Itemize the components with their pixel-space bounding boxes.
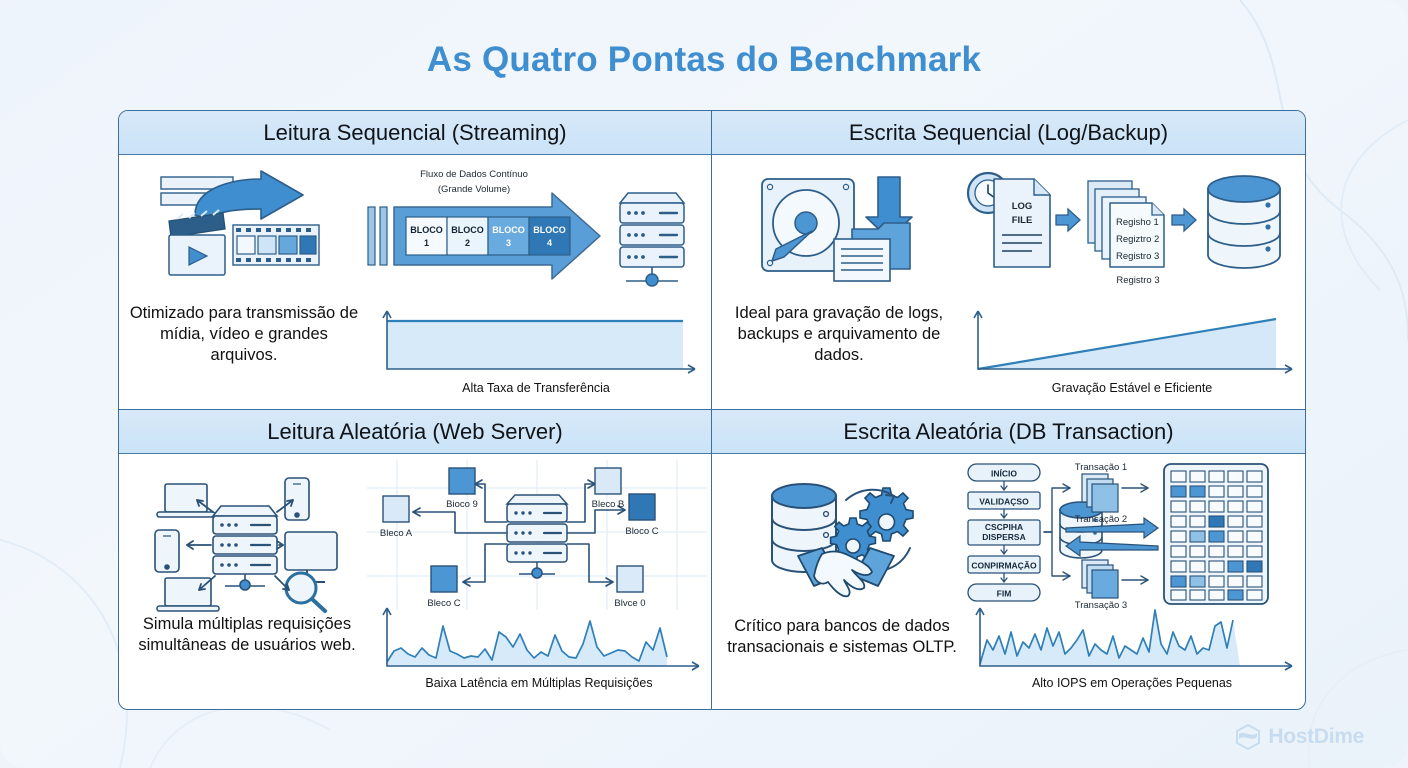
hostdime-logo: HostDime xyxy=(1235,724,1364,750)
disk-backup-illustration xyxy=(742,169,932,287)
transaction-stack-3 xyxy=(1082,560,1118,598)
flow-step-3a: CSCPIHA xyxy=(985,522,1023,532)
block-label-b: Bioco 9 xyxy=(446,499,478,510)
block-label-a: Bleco A xyxy=(380,528,413,539)
server-rack-icon xyxy=(620,193,684,286)
log-file-icon: LOG FILE xyxy=(994,179,1050,267)
flow-step-1: INÍCIO xyxy=(991,469,1017,479)
laptop-bottom-left xyxy=(157,578,219,611)
quadrant-random-read: Leitura Aleatória (Web Server) xyxy=(119,410,712,709)
block-number-2: 2 xyxy=(465,238,470,248)
quadrant-header-sequential-read: Leitura Sequencial (Streaming) xyxy=(119,111,711,155)
chart-label-random-read: Baixa Latência em Múltiplas Requisições xyxy=(369,676,709,690)
center-server-icon xyxy=(507,495,567,578)
flow-caption-line2: (Grande Volume) xyxy=(438,184,510,195)
quadrant-sequential-read: Leitura Sequencial (Streaming) xyxy=(119,111,712,410)
quadrant-grid: Leitura Sequencial (Streaming) xyxy=(118,110,1306,710)
record-label-2: Regiztro 2 xyxy=(1116,234,1159,245)
log-file-line1: LOG xyxy=(1012,201,1033,212)
block-label-3: BLOCO xyxy=(492,225,525,235)
block-matrix-icon xyxy=(1164,464,1268,604)
phone-top-right xyxy=(285,478,309,520)
transaction-stack-1 xyxy=(1082,474,1118,512)
block-label-1: BLOCO xyxy=(410,225,443,235)
laptop-top-left xyxy=(157,484,215,517)
description-sequential-read: Otimizado para transmissão de mídia, víd… xyxy=(129,303,359,366)
block-number-4: 4 xyxy=(547,238,552,248)
page-title: As Quatro Pontas do Benchmark xyxy=(0,40,1408,80)
quadrant-header-random-write: Escrita Aleatória (DB Transaction) xyxy=(712,410,1305,454)
chart-label-sequential-read: Alta Taxa de Transferência xyxy=(371,381,701,395)
record-label-3: Registro 3 xyxy=(1116,251,1159,262)
transaction-label-1: Transação 1 xyxy=(1075,462,1127,473)
record-stack: Regisho 1 Regiztro 2 Registro 3 Registro… xyxy=(1088,181,1164,286)
log-records-diagram: LOG FILE R xyxy=(962,163,1302,291)
description-sequential-write: Ideal para gravação de logs, backups e a… xyxy=(724,303,954,366)
hostdime-hex-logo xyxy=(1235,724,1261,750)
chart-random-write: Alto IOPS em Operações Pequenas xyxy=(962,602,1302,682)
block-label-d: Bloco C xyxy=(625,526,658,537)
chart-label-sequential-write: Gravação Estável e Eficiente xyxy=(962,381,1302,395)
chart-label-random-write: Alto IOPS em Operações Pequenas xyxy=(962,676,1302,690)
transaction-label-2: Transação 2 xyxy=(1075,514,1127,525)
flow-caption-line1: Fluxo de Dados Contínuo xyxy=(420,169,528,180)
database-cylinder-icon xyxy=(1208,176,1280,268)
flow-step-2: VALIDAÇSO xyxy=(979,497,1029,507)
quadrant-header-random-read: Leitura Aleatória (Web Server) xyxy=(119,410,711,454)
quadrant-body-sequential-read: Fluxo de Dados Contínuo (Grande Volume) xyxy=(119,155,711,409)
quadrant-header-sequential-write: Escrita Sequencial (Log/Backup) xyxy=(712,111,1305,155)
multi-device-illustration xyxy=(139,470,354,615)
block-number-3: 3 xyxy=(506,238,511,248)
magnifier-icon xyxy=(286,573,325,611)
hostdime-brand-text: HostDime xyxy=(1268,725,1364,749)
block-label-4: BLOCO xyxy=(533,225,566,235)
block-label-c: Bleco B xyxy=(592,499,625,510)
chart-sequential-read: Alta Taxa de Transferência xyxy=(371,305,701,385)
server-rack-icon xyxy=(213,506,277,590)
block-number-1: 1 xyxy=(424,238,429,248)
description-random-write: Crítico para bancos de dados transaciona… xyxy=(720,616,964,658)
quadrant-body-random-read: Bleco A Bioco 9 Bleco B Bloco C Bleco C … xyxy=(119,454,711,709)
flow-step-5: FIM xyxy=(997,589,1012,599)
quadrant-body-random-write: INÍCIO VALIDAÇSO CSCPIHA DISPERSA CONPIR… xyxy=(712,454,1305,709)
database-handshake-illustration xyxy=(742,470,947,618)
record-stack-caption: Registro 3 xyxy=(1116,275,1159,286)
quadrant-body-sequential-write: LOG FILE R xyxy=(712,155,1305,409)
random-access-diagram: Bleco A Bioco 9 Bleco B Bloco C Bleco C … xyxy=(367,460,707,610)
transaction-flow-diagram: INÍCIO VALIDAÇSO CSCPIHA DISPERSA CONPIR… xyxy=(960,458,1305,610)
quadrant-sequential-write: Escrita Sequencial (Log/Backup) xyxy=(712,111,1305,410)
handshake-icon xyxy=(798,548,894,596)
chart-sequential-write: Gravação Estável e Eficiente xyxy=(962,305,1302,385)
data-flow-diagram: Fluxo de Dados Contínuo (Grande Volume) xyxy=(364,161,699,291)
chart-random-read: Baixa Latência em Múltiplas Requisições xyxy=(369,602,709,682)
media-streaming-illustration xyxy=(143,169,333,287)
phone-left xyxy=(155,530,179,572)
log-file-line2: FILE xyxy=(1012,215,1033,226)
flow-step-3b: DISPERSA xyxy=(982,532,1025,542)
record-label-1: Regisho 1 xyxy=(1116,217,1159,228)
infographic-root: As Quatro Pontas do Benchmark Leitura Se… xyxy=(0,0,1408,768)
block-label-2: BLOCO xyxy=(451,225,484,235)
description-random-read: Simula múltiplas requisições simultâneas… xyxy=(125,614,369,656)
flow-step-4: CONPIRMAÇÃO xyxy=(971,561,1037,571)
quadrant-random-write: Escrita Aleatória (DB Transaction) xyxy=(712,410,1305,709)
